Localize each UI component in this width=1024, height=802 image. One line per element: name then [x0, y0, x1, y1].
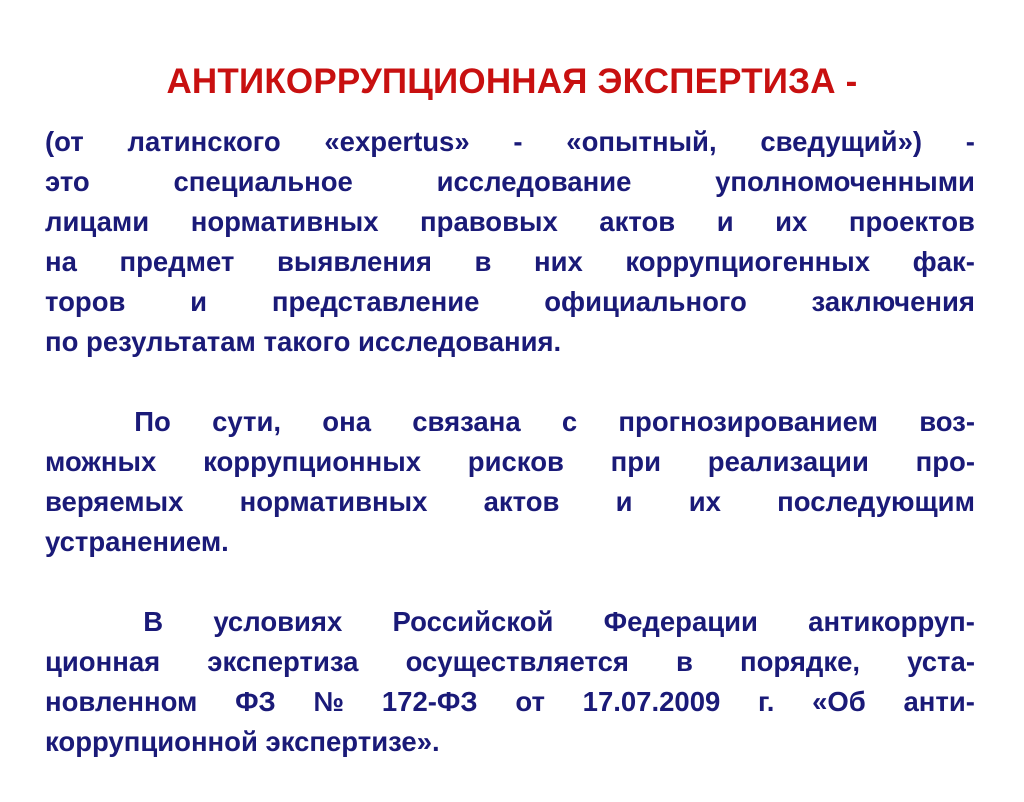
paragraph-definition-line-4: напредметвыявлениявнихкоррупциогенныхфак… — [45, 242, 975, 282]
word: По — [134, 402, 171, 442]
word: воз- — [919, 402, 975, 442]
word: латинского — [128, 122, 281, 162]
word: реализации — [708, 442, 869, 482]
word: них — [534, 242, 583, 282]
presentation-slide: АНТИКОРРУПЦИОННАЯ ЭКСПЕРТИЗА - (отлатинс… — [0, 0, 1024, 767]
word: В — [143, 602, 163, 642]
word: ФЗ — [235, 682, 276, 722]
paragraph-legal-basis-line-4: коррупционной экспертизе». — [45, 722, 975, 762]
paragraph-definition-line-3: лицаминормативныхправовыхактовиихпроекто… — [45, 202, 975, 242]
word: анти- — [903, 682, 974, 722]
word: актов — [599, 202, 675, 242]
paragraph-essence-line-2: можныхкоррупционныхрисковприреализациипр… — [45, 442, 975, 482]
word: заключения — [812, 282, 975, 322]
word: про- — [916, 442, 975, 482]
word: экспертиза — [207, 642, 358, 682]
word: прогнозированием — [618, 402, 878, 442]
word: антикорруп- — [808, 602, 975, 642]
word: фак- — [913, 242, 975, 282]
word: - — [966, 122, 975, 162]
paragraph-legal-basis-line-3: новленномФЗ№172-ФЗот17.07.2009г.«Обанти- — [45, 682, 975, 722]
paragraph-indent — [45, 602, 93, 642]
word: специальное — [173, 162, 352, 202]
paragraph-legal-basis-line-1: ВусловияхРоссийскойФедерацииантикорруп- — [45, 602, 975, 642]
word: коррупционных — [203, 442, 421, 482]
word: их — [775, 202, 807, 242]
paragraph-essence: Посути,онасвязанаспрогнозированиемвоз-мо… — [45, 402, 975, 602]
word: рисков — [468, 442, 564, 482]
word: 17.07.2009 — [583, 682, 721, 722]
word: № — [314, 682, 345, 722]
word: при — [611, 442, 661, 482]
word: в — [676, 642, 693, 682]
paragraph-essence-line-3: веряемыхнормативныхактовиихпоследующим — [45, 482, 975, 522]
word: с — [562, 402, 577, 442]
word: связана — [412, 402, 520, 442]
word: актов — [484, 482, 560, 522]
word: веряемых — [45, 482, 183, 522]
word: осуществляется — [406, 642, 629, 682]
paragraph-definition: (отлатинского«expertus»-«опытный,сведущи… — [45, 122, 975, 402]
word: 172-ФЗ — [382, 682, 478, 722]
word: и — [717, 202, 734, 242]
word: это — [45, 162, 90, 202]
word: выявления — [277, 242, 432, 282]
word: на — [45, 242, 77, 282]
word: представление — [272, 282, 480, 322]
word: уполномоченными — [715, 162, 975, 202]
word: «опытный, — [566, 122, 716, 162]
word: - — [513, 122, 522, 162]
paragraph-definition-line-5: торовипредставлениеофициальногозаключени… — [45, 282, 975, 322]
word: и — [616, 482, 633, 522]
word: последующим — [777, 482, 975, 522]
word: условиях — [213, 602, 342, 642]
paragraph-definition-line-2: этоспециальноеисследованиеуполномоченным… — [45, 162, 975, 202]
word: Федерации — [604, 602, 758, 642]
word: уста- — [907, 642, 975, 682]
word: «Об — [812, 682, 866, 722]
word: «expertus» — [324, 122, 469, 162]
paragraph-essence-line-1: Посути,онасвязанаспрогнозированиемвоз- — [45, 402, 975, 442]
word: коррупциогенных — [625, 242, 870, 282]
word: и — [190, 282, 207, 322]
word: Российской — [393, 602, 554, 642]
word: их — [689, 482, 721, 522]
word: (от — [45, 122, 84, 162]
slide-body: (отлатинского«expertus»-«опытный,сведущи… — [45, 122, 975, 802]
page-title: АНТИКОРРУПЦИОННАЯ ЭКСПЕРТИЗА - — [45, 62, 979, 102]
word: правовых — [420, 202, 558, 242]
word: г. — [758, 682, 774, 722]
word: проектов — [849, 202, 975, 242]
word: новленном — [45, 682, 197, 722]
paragraph-essence-line-4: устранением. — [45, 522, 975, 562]
paragraph-definition-line-6: по результатам такого исследования. — [45, 322, 975, 362]
word: нормативных — [240, 482, 428, 522]
word: лицами — [45, 202, 149, 242]
paragraph-legal-basis-line-2: ционнаяэкспертизаосуществляетсявпорядке,… — [45, 642, 975, 682]
word: сведущий») — [760, 122, 922, 162]
word: порядке, — [740, 642, 860, 682]
word: нормативных — [191, 202, 379, 242]
paragraph-definition-line-1: (отлатинского«expertus»-«опытный,сведущи… — [45, 122, 975, 162]
paragraph-indent — [45, 402, 93, 442]
word: в — [475, 242, 492, 282]
word: от — [515, 682, 545, 722]
word: официального — [544, 282, 747, 322]
word: исследование — [437, 162, 632, 202]
word: можных — [45, 442, 156, 482]
word: предмет — [119, 242, 234, 282]
word: она — [322, 402, 371, 442]
word: ционная — [45, 642, 160, 682]
paragraph-legal-basis: ВусловияхРоссийскойФедерацииантикорруп-ц… — [45, 602, 975, 802]
word: торов — [45, 282, 125, 322]
word: сути, — [212, 402, 281, 442]
